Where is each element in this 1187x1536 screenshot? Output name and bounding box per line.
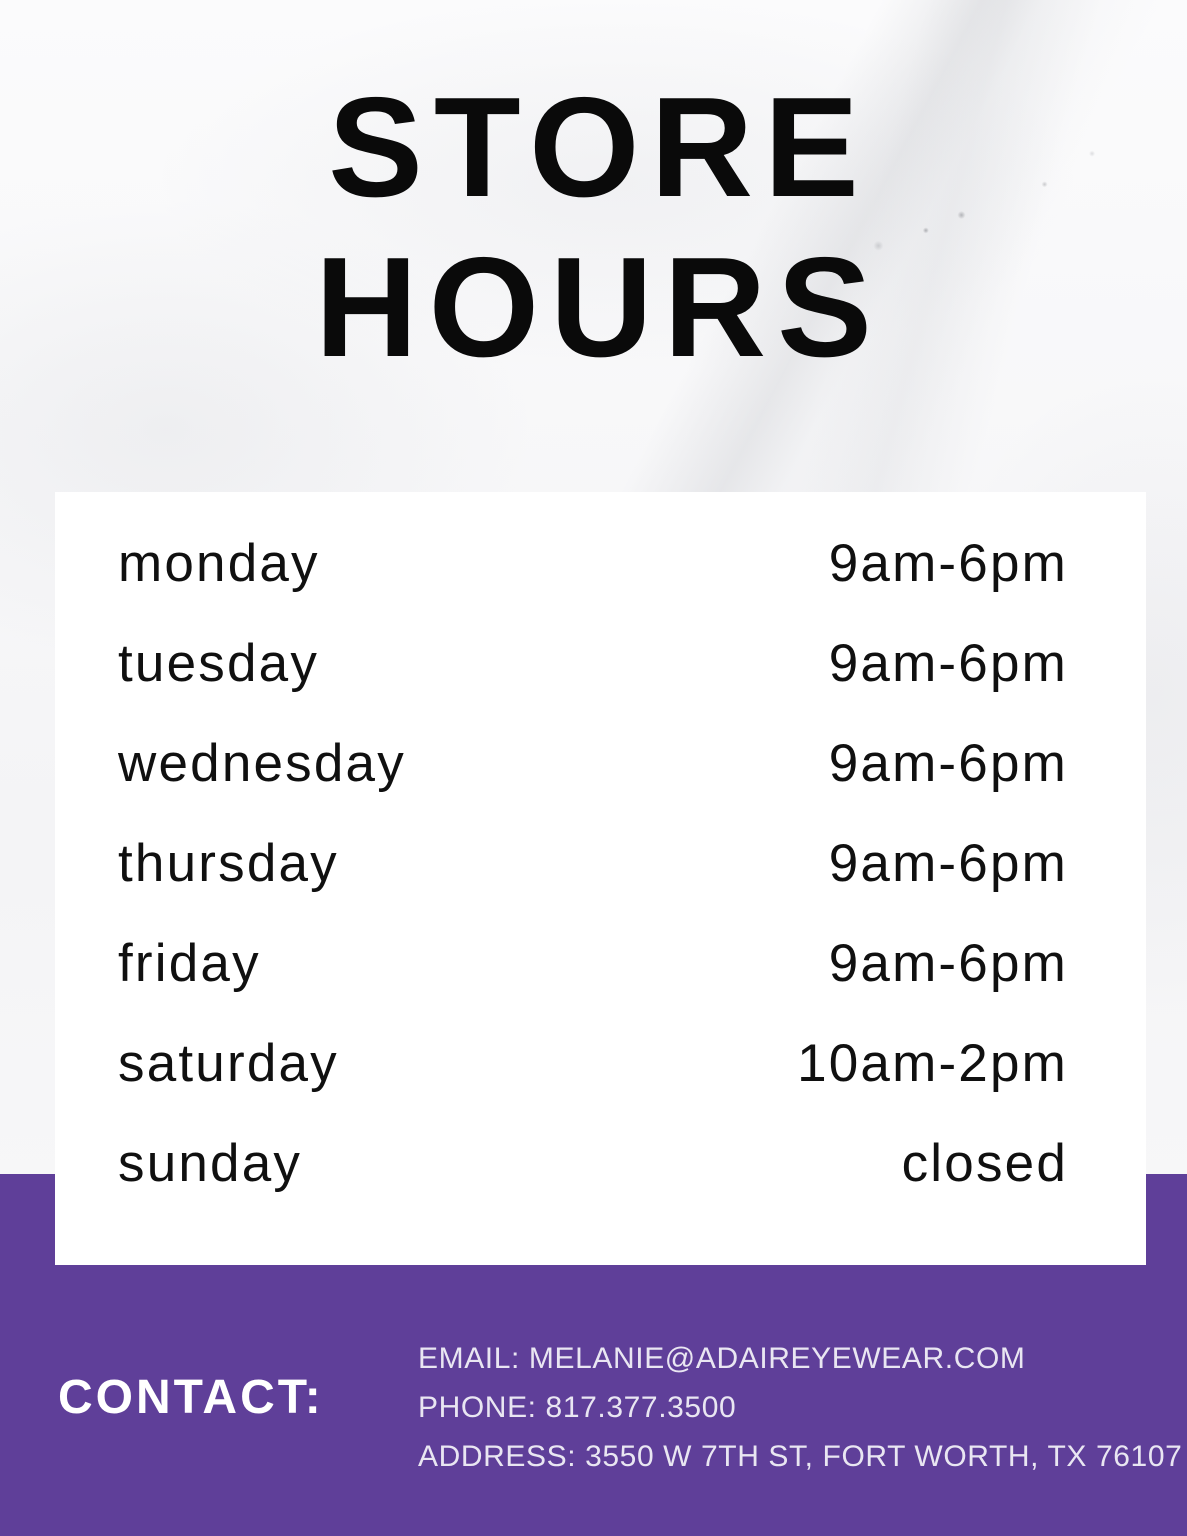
table-row: monday 9am-6pm (118, 534, 1068, 634)
table-row: saturday 10am-2pm (118, 1034, 1068, 1134)
day-hours: 9am-6pm (829, 834, 1068, 894)
day-hours: 9am-6pm (829, 534, 1068, 594)
table-row: wednesday 9am-6pm (118, 734, 1068, 834)
day-hours: 9am-6pm (829, 734, 1068, 794)
title-line-hours: HOURS (0, 228, 1187, 388)
store-hours-poster: STORE HOURS monday 9am-6pm tuesday 9am-6… (0, 0, 1187, 1536)
table-row: sunday closed (118, 1134, 1068, 1234)
contact-email-line: EMAIL: MELANIE@ADAIREYEWEAR.COM (418, 1338, 1158, 1380)
day-name: friday (118, 934, 261, 994)
page-title: STORE HOURS (0, 68, 1187, 388)
table-row: friday 9am-6pm (118, 934, 1068, 1034)
day-hours: closed (902, 1134, 1068, 1194)
day-hours: 10am-2pm (797, 1034, 1068, 1094)
title-line-store: STORE (0, 68, 1187, 228)
day-name: wednesday (118, 734, 406, 794)
contact-heading: CONTACT: (58, 1372, 324, 1424)
day-hours: 9am-6pm (829, 634, 1068, 694)
hours-card: monday 9am-6pm tuesday 9am-6pm wednesday… (55, 492, 1146, 1265)
day-name: monday (118, 534, 320, 594)
day-name: sunday (118, 1134, 302, 1194)
table-row: thursday 9am-6pm (118, 834, 1068, 934)
contact-phone-line: PHONE: 817.377.3500 (418, 1387, 1158, 1429)
contact-section: CONTACT: EMAIL: MELANIE@ADAIREYEWEAR.COM… (0, 1330, 1187, 1536)
day-name: thursday (118, 834, 339, 894)
contact-address-line: ADDRESS: 3550 W 7TH ST, FORT WORTH, TX 7… (418, 1436, 1158, 1478)
contact-details: EMAIL: MELANIE@ADAIREYEWEAR.COM PHONE: 8… (418, 1338, 1158, 1485)
hours-list: monday 9am-6pm tuesday 9am-6pm wednesday… (118, 534, 1068, 1234)
day-name: tuesday (118, 634, 319, 694)
table-row: tuesday 9am-6pm (118, 634, 1068, 734)
day-hours: 9am-6pm (829, 934, 1068, 994)
day-name: saturday (118, 1034, 339, 1094)
